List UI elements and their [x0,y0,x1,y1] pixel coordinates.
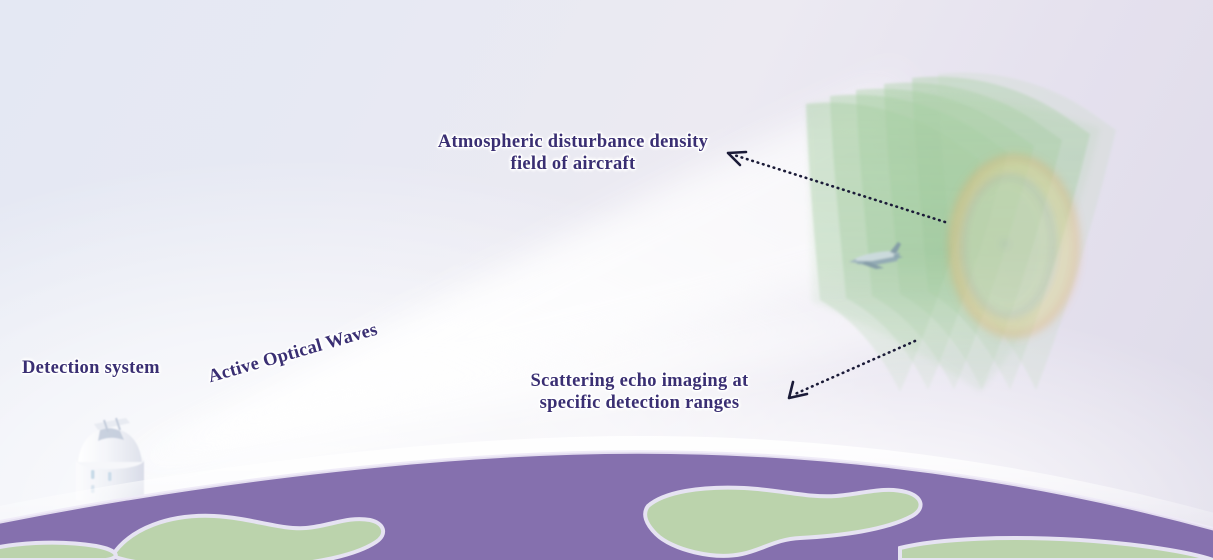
landmass-4 [0,543,116,560]
earth-layer [0,0,1213,560]
label-detection-system: Detection system [22,358,192,380]
label-scattering-echo: Scattering echo imaging at specific dete… [502,371,777,415]
diagram-canvas: Atmospheric disturbance density field of… [0,0,1213,560]
label-density-field: Atmospheric disturbance density field of… [408,132,738,176]
